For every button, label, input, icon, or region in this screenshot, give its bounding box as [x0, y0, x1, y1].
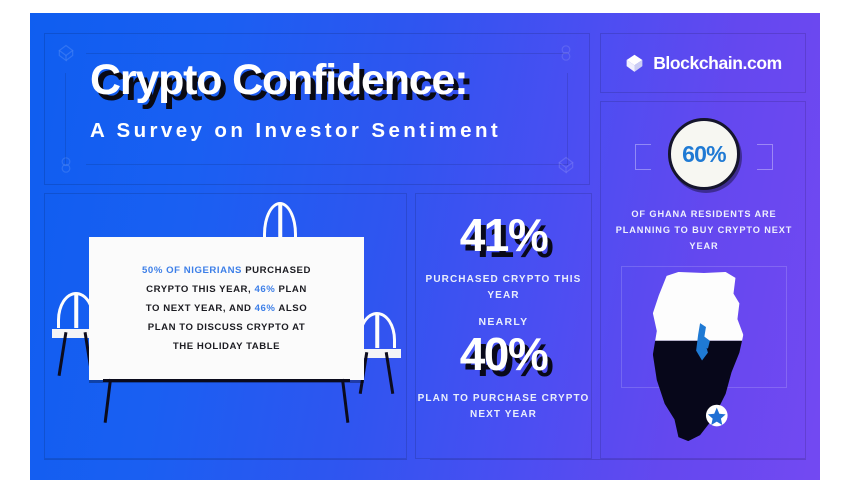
nigeria-stat-part-3: PLAN: [275, 284, 307, 295]
chair-spine: [375, 315, 379, 348]
nigeria-stat-part-4: TO NEXT YEAR, AND: [146, 303, 255, 314]
stat-value-41: 41%: [460, 212, 548, 258]
title-guide-top: [86, 53, 568, 54]
table-top-card: 50% OF NIGERIANS PURCHASED CRYPTO THIS Y…: [89, 237, 364, 380]
title-panel: Crypto Confidence: A Survey on Investor …: [44, 33, 590, 185]
brand-logo-text: Blockchain.com: [653, 53, 782, 74]
page-subtitle: A Survey on Investor Sentiment: [90, 119, 546, 143]
percent-badge-value: 60%: [682, 141, 726, 168]
percent-badge: 60%: [668, 118, 740, 190]
infographic-canvas: Crypto Confidence: A Survey on Investor …: [30, 13, 820, 480]
nigeria-stat-highlight-1: 50% OF NIGERIANS: [142, 265, 242, 276]
bottom-guide-right: [430, 459, 806, 460]
stat-caption-41: PURCHASED CRYPTO THIS YEAR: [416, 272, 591, 303]
chair-spine: [74, 295, 78, 328]
table-apron: [103, 379, 350, 382]
nigeria-stat-part-7: THE HOLIDAY TABLE: [173, 341, 280, 352]
blockchain-cube-logo-icon: [624, 53, 645, 74]
stat-value-40: 40%: [460, 331, 548, 377]
stats-panel: 41% PURCHASED CRYPTO THIS YEAR NEARLY 40…: [415, 193, 592, 459]
table-leg: [104, 379, 112, 423]
nigeria-stat-highlight-3: 46%: [255, 303, 276, 314]
title-guide-bottom: [86, 164, 568, 165]
stat-prefix-nearly: NEARLY: [478, 316, 528, 328]
ghana-map-icon: [645, 270, 763, 445]
ghana-stat-panel: 60% OF GHANA RESIDENTS ARE PLANNING TO B…: [600, 101, 806, 459]
stat-caption-40: PLAN TO PURCHASE CRYPTO NEXT YEAR: [416, 391, 591, 422]
nigeria-stat-text: 50% OF NIGERIANS PURCHASED CRYPTO THIS Y…: [124, 261, 329, 357]
ghana-map-group: [601, 270, 807, 450]
bottom-guide-left: [44, 459, 407, 460]
bracket-right: [757, 144, 773, 170]
blockchain-s-icon: [556, 43, 576, 63]
title-guide-right: [567, 73, 568, 165]
illustration-panel: 50% OF NIGERIANS PURCHASED CRYPTO THIS Y…: [44, 193, 407, 459]
title-guide-left: [65, 73, 66, 165]
nigeria-stat-part-5: ALSO: [276, 303, 308, 314]
nigeria-stat-part-6: PLAN TO DISCUSS CRYPTO AT: [148, 322, 306, 333]
chair-leg: [58, 332, 68, 376]
nigeria-stat-part-2: CRYPTO THIS YEAR,: [146, 284, 254, 295]
bracket-left: [635, 144, 651, 170]
ghana-caption: OF GHANA RESIDENTS ARE PLANNING TO BUY C…: [609, 206, 799, 254]
table-legs: [89, 379, 364, 423]
page-title: Crypto Confidence:: [90, 59, 546, 102]
percent-circle-group: 60%: [601, 118, 807, 194]
table-illustration: 50% OF NIGERIANS PURCHASED CRYPTO THIS Y…: [89, 237, 364, 412]
cube-icon: [556, 155, 576, 175]
cube-icon: [56, 43, 76, 63]
blockchain-s-icon: [56, 155, 76, 175]
nigeria-stat-highlight-2: 46%: [254, 284, 275, 295]
table-leg: [341, 379, 349, 423]
nigeria-stat-part-1: PURCHASED: [242, 265, 311, 276]
right-panel: Blockchain.com 60% OF GHANA RESIDENTS AR…: [600, 33, 806, 459]
title-block: Crypto Confidence: A Survey on Investor …: [90, 59, 546, 143]
brand-logo: Blockchain.com: [600, 33, 806, 93]
